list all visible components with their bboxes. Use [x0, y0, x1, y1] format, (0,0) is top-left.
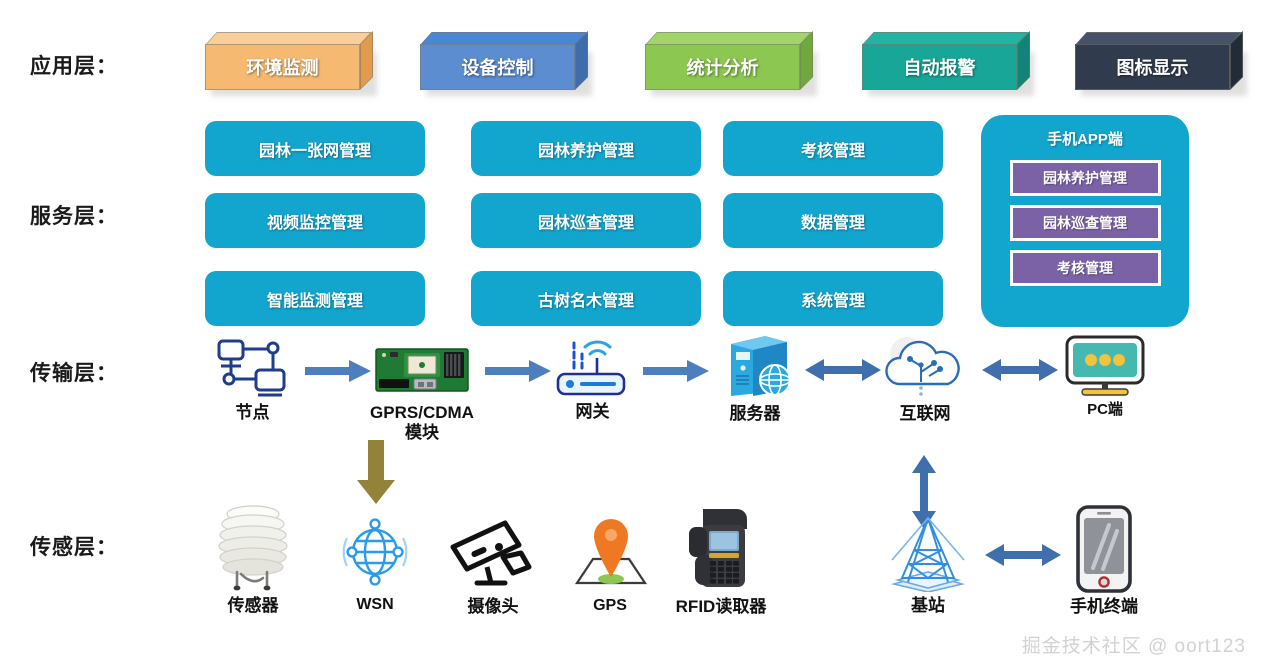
- gps-pin-icon: [565, 505, 655, 593]
- app-box-label: 统计分析: [645, 44, 800, 90]
- transport-node-gprs-label: GPRS/CDMA 模块: [370, 403, 474, 442]
- cctv-camera-icon: [443, 505, 543, 593]
- transport-node-pc-label: PC端: [1055, 401, 1155, 418]
- app-box-huanjing[interactable]: 环境监测: [205, 32, 360, 84]
- app-box-shebeikongzhi[interactable]: 设备控制: [420, 32, 575, 84]
- transport-node-gateway[interactable]: 网关: [545, 330, 640, 422]
- app-box-tubiaoxianshi[interactable]: 图标显示: [1075, 32, 1230, 84]
- arrow-server-internet-both: [805, 355, 881, 390]
- sensing-node-mobile-label: 手机终端: [1052, 597, 1156, 617]
- transport-node-server-label: 服务器: [705, 404, 805, 424]
- app-box-label: 环境监测: [205, 44, 360, 90]
- diagram-canvas: 应用层： 服务层： 传输层： 传感层： 环境监测 设备控制 统计分析 自动报警 …: [0, 0, 1264, 666]
- sensing-node-basestation[interactable]: 基站: [878, 512, 978, 616]
- mobile-app-panel-title: 手机APP端: [1047, 128, 1123, 149]
- rfid-reader-icon: [658, 500, 784, 593]
- service-box-kaohe[interactable]: 考核管理: [723, 121, 943, 176]
- layer-label-application: 应用层：: [30, 50, 118, 80]
- sensing-node-rfid[interactable]: RFID读取器: [658, 500, 784, 617]
- transport-node-jiedian[interactable]: 节点: [200, 335, 305, 423]
- arrow-basestation-mobile-both: [985, 540, 1061, 575]
- sensing-node-sensor[interactable]: 传感器: [198, 500, 308, 616]
- mobile-app-item-xuncha[interactable]: 园林巡查管理: [1010, 205, 1161, 241]
- arrow-internet-pc-both: [982, 355, 1058, 390]
- network-node-icon: [200, 335, 305, 399]
- mobile-app-item-kaohe[interactable]: 考核管理: [1010, 250, 1161, 286]
- cloud-internet-icon: [875, 330, 975, 400]
- transport-node-server[interactable]: 服务器: [705, 330, 805, 424]
- transport-node-internet[interactable]: 互联网: [875, 330, 975, 424]
- service-box-shipinjiankong[interactable]: 视频监控管理: [205, 193, 425, 248]
- service-box-zhinengjiance[interactable]: 智能监测管理: [205, 271, 425, 326]
- service-box-xitong[interactable]: 系统管理: [723, 271, 943, 326]
- app-box-label: 图标显示: [1075, 44, 1230, 90]
- service-box-yuanlinyanghu[interactable]: 园林养护管理: [471, 121, 701, 176]
- sensing-node-basestation-label: 基站: [878, 596, 978, 616]
- sensing-node-mobile[interactable]: 手机终端: [1052, 503, 1156, 617]
- app-box-tongjifenxi[interactable]: 统计分析: [645, 32, 800, 84]
- server-icon: [705, 330, 805, 400]
- app-box-label: 自动报警: [862, 44, 1017, 90]
- app-box-zidongbaojing[interactable]: 自动报警: [862, 32, 1017, 84]
- gateway-router-icon: [545, 330, 640, 398]
- app-box-label: 设备控制: [420, 44, 575, 90]
- service-box-shuju[interactable]: 数据管理: [723, 193, 943, 248]
- transport-node-gprs-label-line2: 模块: [405, 423, 439, 442]
- sensing-node-wsn[interactable]: WSN: [325, 510, 425, 614]
- service-box-yuanlinyizhangwang[interactable]: 园林一张网管理: [205, 121, 425, 176]
- smartphone-icon: [1052, 503, 1156, 593]
- transport-node-internet-label: 互联网: [875, 404, 975, 424]
- watermark: 掘金技术社区 @ oort123: [1022, 631, 1246, 658]
- sensing-node-camera-label: 摄像头: [443, 597, 543, 617]
- layer-label-service: 服务层：: [30, 200, 118, 230]
- transport-node-gateway-label: 网关: [545, 402, 640, 422]
- sensing-node-gps-label: GPS: [565, 597, 655, 615]
- sensing-node-gps[interactable]: GPS: [565, 505, 655, 615]
- sensing-node-wsn-label: WSN: [325, 596, 425, 614]
- arrow-gprs-to-gateway: [485, 358, 553, 389]
- pc-monitor-icon: [1055, 333, 1155, 397]
- mobile-app-panel: 手机APP端 园林养护管理 园林巡查管理 考核管理: [981, 115, 1189, 327]
- transport-node-gprs-label-line1: GPRS/CDMA: [370, 403, 474, 422]
- wsn-globe-icon: [325, 510, 425, 592]
- sensing-node-camera[interactable]: 摄像头: [443, 505, 543, 617]
- layer-label-transport: 传输层：: [30, 357, 118, 387]
- mobile-app-item-yanghu[interactable]: 园林养护管理: [1010, 160, 1161, 196]
- transport-node-pc[interactable]: PC端: [1055, 333, 1155, 418]
- layer-label-sensing: 传感层：: [30, 531, 118, 561]
- arrow-gprs-to-wsn: [355, 440, 397, 511]
- arrow-gateway-to-server: [643, 358, 711, 389]
- transport-node-gprs[interactable]: GPRS/CDMA 模块: [372, 333, 472, 442]
- weather-sensor-icon: [198, 500, 308, 592]
- transport-node-label: 节点: [200, 403, 305, 423]
- gprs-cdma-module-icon: [372, 333, 472, 399]
- service-box-yuanlinxuncha[interactable]: 园林巡查管理: [471, 193, 701, 248]
- sensing-node-sensor-label: 传感器: [198, 596, 308, 616]
- service-box-gushumingmu[interactable]: 古树名木管理: [471, 271, 701, 326]
- base-station-icon: [878, 512, 978, 592]
- arrow-node-to-gprs: [305, 358, 373, 389]
- sensing-node-rfid-label: RFID读取器: [658, 597, 784, 617]
